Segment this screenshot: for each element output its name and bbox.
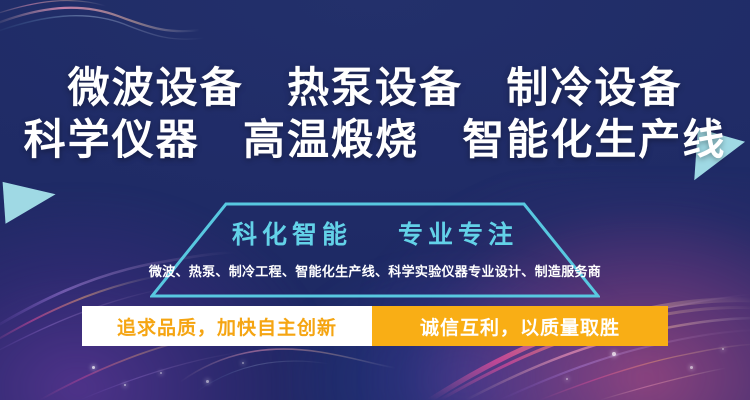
headline-item-scientific-instruments: 科学仪器: [24, 116, 200, 163]
tagline-part-2: 专业专注: [398, 221, 518, 249]
sparkle-dot: [722, 348, 724, 350]
sparkle-dot: [690, 366, 693, 369]
plaque-subtitle: 微波、热泵、制冷工程、智能化生产线、科学实验仪器专业设计、制造服务商: [0, 263, 750, 281]
sparkle-dot: [242, 362, 244, 364]
tagline-part-1: 科化智能: [232, 221, 352, 249]
headline-line-2: 科学仪器 高温煅烧 智能化生产线: [0, 114, 750, 166]
arrow-left-icon: [3, 178, 58, 224]
sparkle-dot: [612, 352, 616, 356]
sparkle-dot: [160, 372, 162, 374]
headline-item-high-temp-calcination: 高温煅烧: [243, 116, 419, 163]
slogan-pill-integrity-quality: 诚信互利，以质量取胜: [372, 306, 668, 346]
sparkle-dot: [206, 380, 209, 383]
headline: 微波设备 热泵设备 制冷设备 科学仪器 高温煅烧 智能化生产线: [0, 62, 750, 166]
headline-line-1: 微波设备 热泵设备 制冷设备: [0, 62, 750, 114]
plaque-tagline: 科化智能 专业专注: [0, 218, 750, 252]
promo-banner: 微波设备 热泵设备 制冷设备 科学仪器 高温煅烧 智能化生产线 科化智能 专业专…: [0, 0, 750, 400]
sparkle-dot: [566, 378, 568, 380]
headline-item-refrigeration: 制冷设备: [506, 64, 682, 111]
headline-item-heat-pump: 热泵设备: [287, 64, 463, 111]
slogan-bar: 追求品质，加快自主创新 诚信互利，以质量取胜: [82, 306, 668, 346]
sparkle-dot: [92, 366, 95, 369]
slogan-pill-quality-innovation: 追求品质，加快自主创新: [82, 306, 372, 346]
sparkle-dot: [124, 384, 126, 386]
headline-item-microwave: 微波设备: [68, 64, 244, 111]
headline-item-smart-production-line: 智能化生产线: [462, 116, 726, 163]
